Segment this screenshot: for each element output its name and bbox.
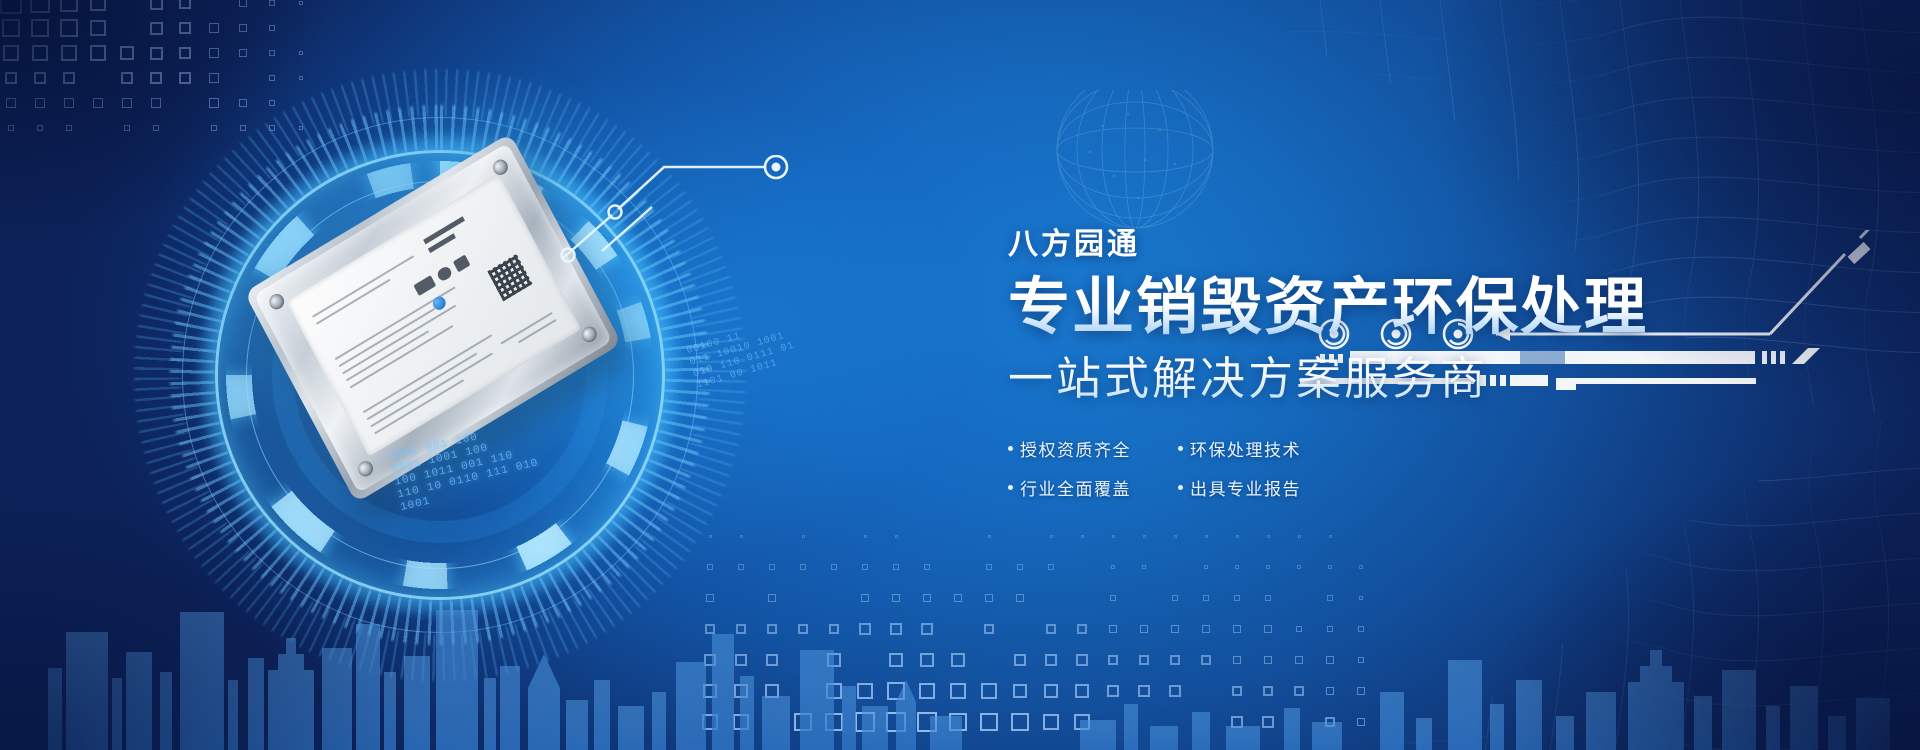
grid-square [921,623,932,634]
grid-square [239,0,247,7]
grid-square [1264,656,1272,664]
grid-square [831,564,837,570]
grid-square [60,19,78,37]
grid-square [855,712,874,731]
grid-square [1077,624,1086,633]
grid-square [1298,535,1301,538]
grid-square [1297,565,1301,569]
feature-label: 授权资质齐全 [1020,436,1131,461]
grid-square [826,683,842,699]
grid-square [209,23,218,32]
hard-disk-drive-icon [244,133,622,503]
grid-square [1204,565,1209,570]
ring-outer-ticks [132,67,748,683]
grid-square [1266,565,1270,569]
bullet-dot-icon [1008,446,1013,451]
grid-square [980,713,998,731]
grid-square [893,564,899,570]
grid-square [859,623,870,634]
grid-square [299,51,303,55]
grid-square [122,98,132,108]
grid-square [153,125,160,132]
grid-square [1142,565,1147,570]
grid-square [1013,684,1028,699]
grid-square [1139,655,1149,665]
feature-list: 授权资质齐全环保处理技术行业全面覆盖出具专业报告 [1008,436,1338,500]
grid-square [706,594,713,601]
grid-square [179,0,190,9]
grid-square [1203,595,1209,601]
grid-square [857,683,874,700]
grid-square [1233,625,1240,632]
grid-square [179,22,190,33]
grid-square [240,125,247,132]
headline-copy-block: 八方园通 专业销毁资产环保处理 一站式解决方案服务商 授权资质齐全环保处理技术行… [1008,228,1728,500]
grid-square [1327,595,1332,600]
grid-square [150,22,163,35]
grid-square [1235,565,1239,569]
grid-square [1109,625,1118,634]
city-skyline-silhouette-icon [0,520,1920,750]
digital-square-grid-topleft [0,0,330,142]
grid-square [120,46,135,61]
ring-main [215,150,665,600]
grid-square [1236,535,1239,538]
grid-square [1048,564,1053,569]
grid-square [179,72,190,83]
grid-square [1076,654,1087,665]
grid-square [887,682,904,699]
page-subtitle: 一站式解决方案服务商 [1008,352,1728,406]
grid-square [1011,713,1028,730]
grid-square [1325,717,1335,727]
grid-square [923,594,931,602]
grid-square [30,0,50,13]
grid-square [705,624,714,633]
ring-glow [200,135,680,615]
grid-square [1263,686,1273,696]
brand-name: 八方园通 [1008,228,1728,261]
grid-square [895,535,898,538]
grid-square [8,125,15,132]
grid-square [1264,625,1271,632]
grid-square [150,0,163,10]
grid-square [299,126,303,130]
grid-square [917,712,936,731]
grid-square [1328,565,1332,569]
grid-square [151,98,161,108]
grid-square [1296,626,1303,633]
grid-square [1017,564,1022,569]
grid-square [1043,714,1059,730]
grid-square [35,98,45,108]
grid-square [949,713,968,732]
binary-overlay-right: 00100 11 011 10010 1001 010 110 0111 01 … [685,317,799,392]
grid-square [829,624,840,635]
grid-square [37,125,44,132]
grid-square [1172,595,1178,601]
grid-square [738,564,743,569]
grid-square [1074,714,1090,730]
grid-square [985,594,993,602]
page-title: 专业销毁资产环保处理 [1008,273,1728,342]
grid-square [825,713,844,732]
grid-square [800,564,805,569]
feature-item: 授权资质齐全 [1008,436,1156,461]
grid-square [735,654,747,666]
grid-square [2,19,21,38]
grid-square [1294,686,1303,695]
grid-square [299,1,303,5]
ring-outer [182,117,698,633]
feature-item: 行业全面覆盖 [1008,475,1156,500]
grid-square [211,125,218,132]
grid-square [924,564,930,570]
grid-square [950,683,966,699]
grid-square [1267,535,1270,538]
grid-square [765,684,780,699]
grid-square [1358,657,1365,664]
ring-inner [246,181,634,569]
grid-square [66,125,73,132]
grid-square [1357,687,1365,695]
grid-square [1108,655,1119,666]
grid-square [93,98,103,108]
grid-square [269,25,275,31]
grid-square [798,624,808,634]
grid-square [1050,535,1053,538]
grid-square [1044,684,1058,698]
grid-square [150,72,163,85]
feature-label: 行业全面覆盖 [1020,475,1131,500]
grid-square [892,594,901,603]
grid-square [209,73,218,82]
grid-square [1265,595,1271,601]
grid-square [1231,716,1243,728]
grid-square [1233,656,1242,665]
ring-band [272,207,608,543]
grid-square [954,594,962,602]
grid-square [704,654,715,665]
grid-square [1329,535,1332,538]
grid-square [1357,718,1366,727]
grid-square [981,683,996,698]
ring-segmented [198,133,682,617]
grid-square [702,714,718,730]
grid-square [1075,684,1088,697]
grid-square [209,98,218,107]
grid-square [1171,625,1179,633]
grid-square [1202,625,1210,633]
grid-square [890,623,902,635]
grid-square [90,45,106,61]
grid-square [1143,535,1146,538]
grid-square [179,47,190,58]
grid-square [1138,685,1150,697]
grid-square [1110,595,1117,602]
grid-square [121,72,134,85]
grid-square [1295,656,1303,664]
grid-square [920,653,934,667]
grid-square [767,624,777,634]
grid-square [239,49,247,57]
grid-square [31,19,50,38]
grid-square [864,535,867,538]
grid-square [5,72,18,85]
feature-item: 出具专业报告 [1178,475,1326,500]
grid-square [34,72,47,85]
grid-square [861,594,869,602]
ring-ticks [168,103,712,647]
grid-square [709,535,712,538]
grid-square [1107,685,1120,698]
grid-square [1170,655,1180,665]
bullet-dot-icon [1008,485,1013,490]
grid-square [1205,535,1208,538]
grid-square [794,713,812,731]
grid-square [733,714,749,730]
bullet-dot-icon [1178,446,1183,451]
grid-square [1359,565,1363,569]
grid-square [919,683,936,700]
grid-square [90,0,107,11]
grid-square [736,624,746,634]
grid-square [299,76,303,80]
grid-square [6,98,16,108]
digital-square-grid-bottom [700,526,1400,750]
grid-square [3,45,19,61]
grid-square [886,712,906,732]
grid-square [63,72,76,85]
grid-square [1014,654,1026,666]
grid-square [269,125,275,131]
grid-square [1174,535,1177,538]
grid-square [90,20,107,37]
grid-square [1359,596,1364,601]
grid-square [1016,594,1024,602]
grid-square [269,100,275,106]
hdd-tech-ring-graphic: 1001 001 100 1001 1001 100 100 1011 001 … [160,95,720,655]
grid-square [1232,686,1242,696]
grid-square [1045,654,1057,666]
grid-square [951,653,964,666]
grid-square [707,564,712,569]
grid-square [60,0,78,12]
feature-label: 环保处理技术 [1190,436,1301,461]
grid-square [1112,535,1115,538]
grid-square [740,535,743,538]
grid-square [1081,535,1084,538]
grid-square [1326,656,1333,663]
grid-square [703,684,716,697]
grid-square [769,564,774,569]
grid-square [32,45,48,61]
grid-square [1046,624,1056,634]
grid-square [1111,565,1116,570]
grid-square [862,564,868,570]
grid-square [802,535,805,538]
grid-square [768,594,776,602]
grid-square [1327,626,1333,632]
grid-square [64,98,74,108]
grid-square [269,75,275,81]
grid-square [766,654,778,666]
promotional-banner: 1001 001 100 1001 1001 100 100 1011 001 … [0,0,1920,750]
grid-square [734,684,748,698]
grid-square [984,624,994,634]
grid-square [0,0,22,14]
grid-square [1358,626,1364,632]
grid-square [239,24,247,32]
grid-square [1169,685,1181,697]
grid-square [827,653,840,666]
grid-square [1262,716,1273,727]
grid-square [150,47,163,60]
feature-item: 环保处理技术 [1178,436,1326,461]
grid-square [209,48,218,57]
grid-square [124,125,131,132]
binary-overlay-left: 1001 001 100 1001 1001 100 100 1011 001 … [388,400,627,515]
bullet-dot-icon [1178,485,1183,490]
grid-square [239,99,247,107]
grid-square [1326,687,1334,695]
grid-square [61,45,77,61]
grid-square [1234,595,1240,601]
grid-square [1201,655,1210,664]
grid-square [889,653,903,667]
feature-label: 出具专业报告 [1190,475,1301,500]
grid-square [269,50,275,56]
grid-square [1140,625,1149,634]
connector-line-icon [560,155,880,285]
grid-square [988,535,991,538]
grid-square [986,564,991,569]
grid-square [269,0,275,6]
